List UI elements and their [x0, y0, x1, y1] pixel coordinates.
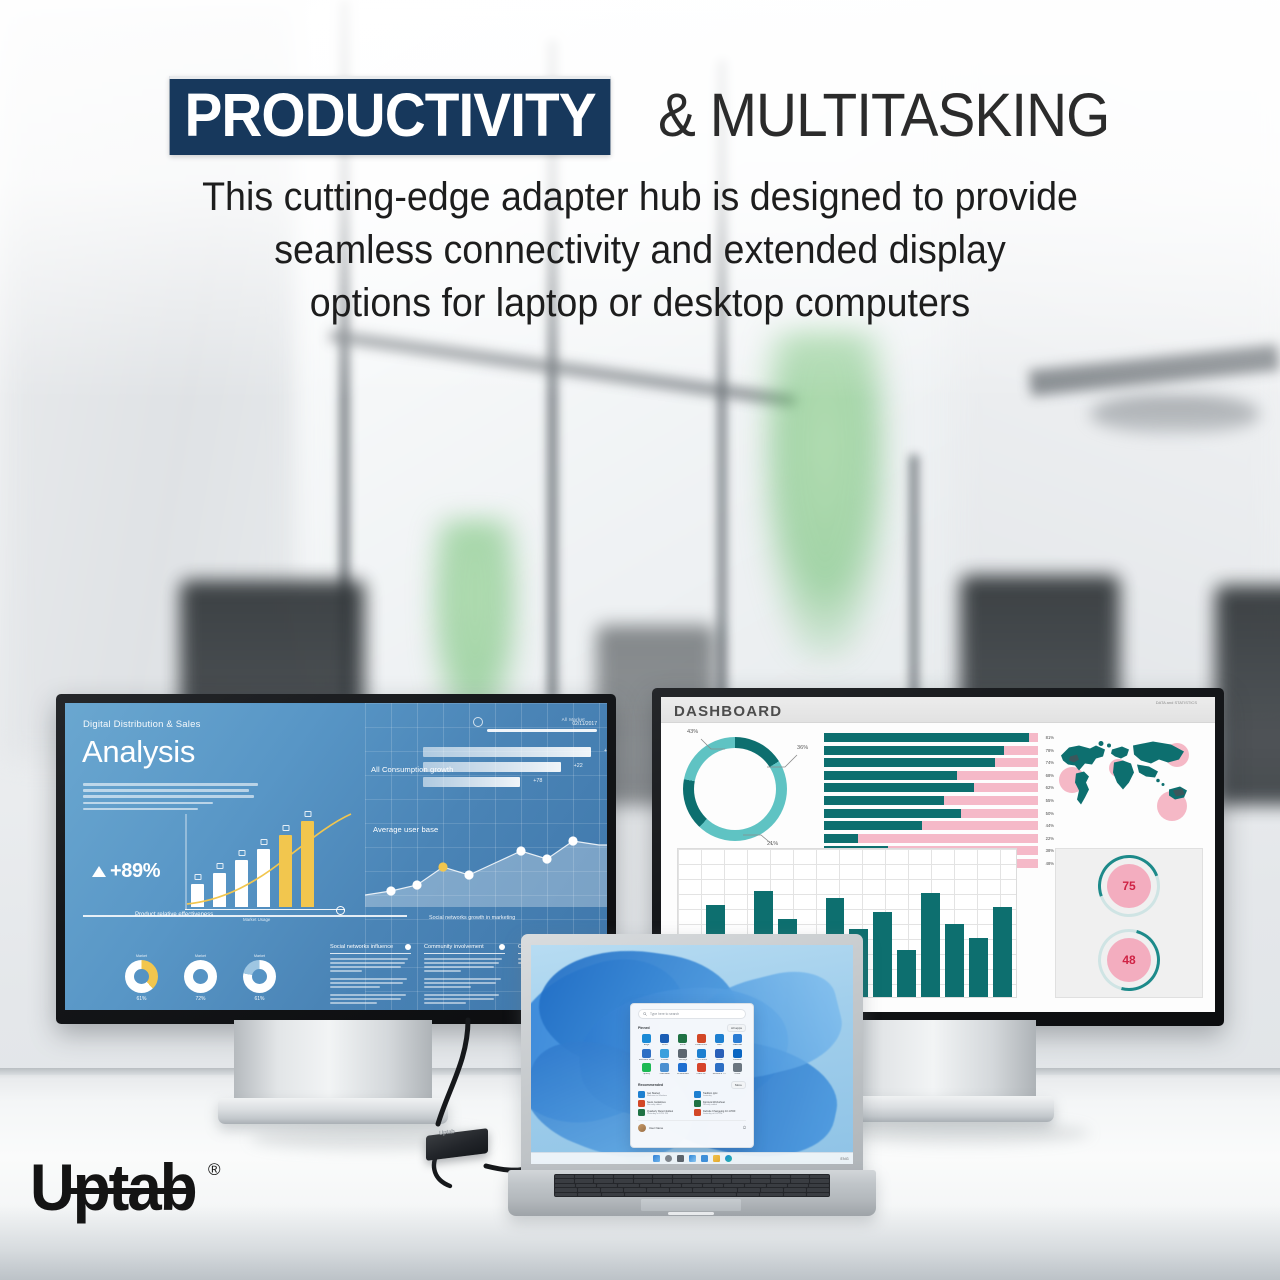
- column-paragraph: [424, 958, 505, 972]
- hbar-track: [824, 834, 1038, 843]
- column-bar: [969, 938, 988, 997]
- trackpad[interactable]: [641, 1199, 741, 1211]
- hbar: +78: [423, 777, 520, 787]
- column-bar: [873, 912, 892, 997]
- column-bar: [993, 907, 1012, 997]
- recommended-item[interactable]: Get StartedWelcome to Windows: [638, 1091, 691, 1098]
- analysis-paragraph: [83, 783, 263, 814]
- hbar-fill: [824, 821, 922, 830]
- world-map-chart: [1053, 733, 1203, 831]
- column-header: Social networks influence: [330, 944, 411, 950]
- hbar-fill: [824, 796, 944, 805]
- pinned-apps-grid: EdgeWordExcelPowerPointMailCalendarMicro…: [638, 1034, 746, 1076]
- growth-indicator: +89%: [92, 860, 160, 883]
- app-icon: [678, 1034, 687, 1043]
- hbar-track: [824, 809, 1038, 818]
- date-underline: [487, 729, 597, 732]
- app-label: Photos: [656, 1059, 673, 1062]
- column-rule: [424, 953, 505, 954]
- hbar-label: 22%: [1038, 836, 1054, 841]
- hbar-row: 55%: [824, 796, 1054, 805]
- column-dot-icon: [499, 944, 505, 950]
- recommended-icon: [694, 1109, 701, 1116]
- recommended-section-header: Recommended More: [638, 1081, 746, 1089]
- pinned-app[interactable]: Whiteboard: [674, 1063, 691, 1076]
- recommended-text: News GuidelinesRecently added: [647, 1101, 666, 1106]
- recommended-text: Website Changelog 10.1.PDFYesterday at 6…: [703, 1110, 736, 1115]
- app-icon: [642, 1063, 651, 1072]
- analysis-kicker: Digital Distribution & Sales: [83, 719, 201, 730]
- recommended-icon: [638, 1091, 645, 1098]
- hbar: +22: [423, 762, 561, 772]
- column-paragraph: [330, 958, 411, 972]
- search-icon: [643, 1012, 647, 1016]
- pinned-app[interactable]: Settings: [674, 1049, 691, 1062]
- pinned-label: Pinned: [638, 1026, 650, 1030]
- pinned-app[interactable]: Word: [656, 1034, 673, 1047]
- hbar-fill: [824, 746, 1004, 755]
- app-icon: [715, 1063, 724, 1072]
- left-monitor-base: [218, 1098, 448, 1124]
- donut-chart: [243, 960, 276, 993]
- edge-icon[interactable]: [725, 1155, 732, 1162]
- hbar-value: +22: [574, 763, 583, 769]
- scene: Digital Distribution & Sales Analysis Al…: [0, 0, 1280, 1280]
- taskbar[interactable]: ENG: [531, 1152, 853, 1164]
- app-icon: [733, 1049, 742, 1058]
- hbar-track: [824, 796, 1038, 805]
- more-button[interactable]: More: [731, 1081, 746, 1089]
- pinned-app[interactable]: Linkedin: [729, 1049, 746, 1062]
- app-label: Calculator: [656, 1073, 673, 1076]
- all-apps-button[interactable]: All apps: [727, 1024, 746, 1032]
- laptop: Type here to search Pinned All apps Edge…: [508, 934, 876, 1224]
- pinned-app[interactable]: Calculator: [656, 1063, 673, 1076]
- app-label: Whiteboard: [674, 1073, 691, 1076]
- pinned-app[interactable]: To Do: [711, 1049, 728, 1062]
- headline-block: PRODUCTIVITY & MULTITASKING This cutting…: [0, 76, 1280, 331]
- app-label: Movies & TV: [711, 1073, 728, 1076]
- app-label: Clock: [729, 1073, 746, 1076]
- hbar-fill: [824, 809, 961, 818]
- hbar-track: [824, 746, 1038, 755]
- app-label: Spotify: [638, 1073, 655, 1076]
- start-menu[interactable]: Type here to search Pinned All apps Edge…: [630, 1003, 754, 1148]
- hbar-row: 74%: [824, 758, 1054, 767]
- recommended-icon: [638, 1109, 645, 1116]
- analysis-title: Analysis: [82, 734, 195, 770]
- recommended-subtitle: Yesterday at 6:02 PM: [703, 1113, 736, 1115]
- system-tray[interactable]: ENG: [840, 1157, 849, 1161]
- keyboard-row: [555, 1179, 829, 1182]
- hbar-fill: [824, 733, 1029, 742]
- hbar-track: [824, 733, 1038, 742]
- gauge-panel: 75 48: [1055, 848, 1203, 998]
- column-bar: [921, 893, 940, 997]
- app-label: Calendar: [729, 1044, 746, 1047]
- search-placeholder: Type here to search: [650, 1012, 679, 1016]
- hbar-label: 74%: [1038, 760, 1054, 765]
- donut-value: 61%: [243, 996, 276, 1002]
- hbar-fill: [824, 771, 957, 780]
- app-label: Linkedin: [729, 1059, 746, 1062]
- task-view-icon[interactable]: [677, 1155, 684, 1162]
- app-icon: [715, 1034, 724, 1043]
- hbar-fill: [824, 834, 858, 843]
- hbar-label: 81%: [1038, 735, 1054, 740]
- app-label: Mail: [711, 1044, 728, 1047]
- pinned-app[interactable]: Excel: [674, 1034, 691, 1047]
- app-icon: [733, 1034, 742, 1043]
- app-icon: [678, 1063, 687, 1072]
- column-dot-icon: [405, 944, 411, 950]
- recommended-icon: [638, 1100, 645, 1107]
- pinned-section-header: Pinned All apps: [638, 1024, 746, 1032]
- brand-logo: Uptab ®: [30, 1158, 196, 1220]
- recommended-text: Tradition.pptxYesterday: [703, 1092, 718, 1097]
- subtitle-line-1: This cutting-edge adapter hub is designe…: [38, 171, 1241, 224]
- widgets-icon[interactable]: [689, 1155, 696, 1162]
- hbar-row: 68%: [824, 771, 1054, 780]
- up-arrow-icon: [92, 866, 106, 877]
- hbar-label: 44%: [1038, 823, 1054, 828]
- hbar-track: [824, 758, 1038, 767]
- app-label: PowerPoint: [692, 1044, 709, 1047]
- app-icon: [733, 1063, 742, 1072]
- donut-value: 72%: [184, 996, 217, 1002]
- column-paragraph: [330, 978, 411, 988]
- search-input[interactable]: Type here to search: [638, 1009, 746, 1019]
- date-circle-icon: [473, 717, 483, 727]
- recommended-text: Approval WorksheetRecently added: [703, 1101, 725, 1106]
- date-line: 02/11/2017: [487, 721, 597, 732]
- area-chart: [365, 821, 607, 907]
- donut-item: Market 72%: [184, 954, 217, 1002]
- app-icon: [642, 1049, 651, 1058]
- start-icon[interactable]: [653, 1155, 660, 1162]
- hbar-label: 48%: [1038, 861, 1054, 866]
- hbar-value: +33: [604, 748, 607, 754]
- subtitle-line-2: seamless connectivity and extended displ…: [38, 224, 1241, 277]
- hbar-row: 44%: [824, 821, 1054, 830]
- pinned-app[interactable]: Mail: [711, 1034, 728, 1047]
- title-row: PRODUCTIVITY & MULTITASKING: [0, 76, 1280, 155]
- pinned-app[interactable]: PowerPoint: [692, 1034, 709, 1047]
- background-chair: [1215, 585, 1280, 805]
- recommended-icon: [694, 1091, 701, 1098]
- pinned-app[interactable]: Calendar: [729, 1034, 746, 1047]
- effectiveness-title: Product relative effectiveness: [135, 912, 213, 918]
- recommended-label: Recommended: [638, 1083, 663, 1087]
- donut-value: 61%: [125, 996, 158, 1002]
- column-title: Community involvement: [424, 944, 484, 950]
- pinned-app[interactable]: Microsoft Store: [638, 1049, 655, 1062]
- recommended-subtitle: Welcome to Windows: [647, 1095, 667, 1097]
- laptop-screen: Type here to search Pinned All apps Edge…: [531, 945, 853, 1164]
- hbar-label: 55%: [1038, 798, 1054, 803]
- app-label: Settings: [674, 1059, 691, 1062]
- app-icon: [660, 1034, 669, 1043]
- headline-plain: & MULTITASKING: [658, 85, 1109, 146]
- column-paragraph: [424, 978, 505, 988]
- pinned-app[interactable]: Edge: [638, 1034, 655, 1047]
- app-icon: [697, 1049, 706, 1058]
- recommended-text: Quarterly Report EditedYesterday at 10:1…: [647, 1110, 673, 1115]
- avatar[interactable]: [638, 1124, 646, 1132]
- pinned-app[interactable]: Clock: [729, 1063, 746, 1076]
- recommended-list: Get StartedWelcome to WindowsTradition.p…: [638, 1091, 746, 1116]
- laptop-base: [508, 1170, 876, 1216]
- recommended-subtitle: Yesterday at 10:14 PM: [647, 1113, 673, 1115]
- hbar-fill: [824, 783, 974, 792]
- left-monitor-neck: [234, 1020, 432, 1104]
- recommended-subtitle: Recently added: [703, 1104, 725, 1106]
- hbar-label: 50%: [1038, 811, 1054, 816]
- hbar-row: 81%: [824, 733, 1054, 742]
- subtitle-line-3: options for laptop or desktop computers: [38, 277, 1241, 330]
- pinned-app[interactable]: Photos: [656, 1049, 673, 1062]
- registered-trademark-icon: ®: [208, 1160, 221, 1180]
- app-label: Your Phone: [692, 1059, 709, 1062]
- recommended-subtitle: Yesterday: [703, 1095, 718, 1097]
- window-mullion-vertical: [910, 455, 918, 705]
- hbar-track: [824, 783, 1038, 792]
- laptop-lid: Type here to search Pinned All apps Edge…: [521, 934, 863, 1176]
- dashboard-date: 02/11/2017: [487, 721, 597, 727]
- hbar-track: [824, 821, 1038, 830]
- power-icon[interactable]: ⏻: [743, 1125, 746, 1130]
- recommended-text: Get StartedWelcome to Windows: [647, 1092, 667, 1097]
- ceiling-lamp: [1090, 395, 1260, 433]
- column-header: Community involvement: [424, 944, 505, 950]
- donut-caption: Market: [125, 954, 158, 958]
- hbar-fill: [824, 758, 995, 767]
- subtitle-block: This cutting-edge adapter hub is designe…: [38, 171, 1241, 331]
- laptop-keyboard[interactable]: [554, 1174, 830, 1197]
- adapter-hub-body: [426, 1128, 488, 1161]
- dashboard-title: DASHBOARD: [674, 703, 782, 720]
- app-icon: [678, 1049, 687, 1058]
- gauge-chart: 48: [1098, 929, 1160, 991]
- search-icon[interactable]: [665, 1155, 672, 1162]
- recommended-icon: [694, 1100, 701, 1107]
- pie-leader-lines: [681, 733, 831, 851]
- donut-chart: [184, 960, 217, 993]
- gauge-ring: [1088, 845, 1170, 927]
- hbar-track: [824, 771, 1038, 780]
- column-paragraph: [330, 994, 411, 1004]
- trend-line: [185, 812, 353, 910]
- keyboard-row: [555, 1175, 829, 1178]
- donut-item: Market 61%: [125, 954, 158, 1002]
- column-bar: [897, 950, 916, 997]
- app-label: Microsoft Store: [638, 1059, 655, 1062]
- hbar-row: 78%: [824, 746, 1054, 755]
- recommended-item[interactable]: News GuidelinesRecently added: [638, 1100, 691, 1107]
- app-icon: [715, 1049, 724, 1058]
- pinned-app[interactable]: Movies & TV: [711, 1063, 728, 1076]
- hbar-value: +78: [533, 778, 542, 784]
- pinned-app[interactable]: Your Phone: [692, 1049, 709, 1062]
- hbar-row: 22%: [824, 834, 1054, 843]
- app-label: Paint 3D: [692, 1073, 709, 1076]
- column-paragraph: [424, 994, 505, 1004]
- app-label: Excel: [674, 1044, 691, 1047]
- app-icon: [697, 1034, 706, 1043]
- app-label: To Do: [711, 1059, 728, 1062]
- monitor-shadow: [840, 1122, 1090, 1144]
- keyboard-row: [555, 1193, 829, 1196]
- gauge-chart: 75: [1098, 855, 1160, 917]
- text-column: Community involvement: [424, 944, 505, 1006]
- growth-value: +89%: [110, 860, 160, 883]
- hbar-label: 78%: [1038, 748, 1054, 753]
- app-label: Word: [656, 1044, 673, 1047]
- app-label: Edge: [638, 1044, 655, 1047]
- user-row[interactable]: User Name ⏻: [638, 1120, 746, 1132]
- app-icon: [660, 1063, 669, 1072]
- user-name: User Name: [649, 1126, 663, 1130]
- headline-badge: PRODUCTIVITY: [170, 76, 611, 155]
- recommended-subtitle: Recently added: [647, 1104, 666, 1106]
- recommended-item[interactable]: Quarterly Report EditedYesterday at 10:1…: [638, 1109, 691, 1116]
- hbar: +33: [423, 747, 591, 757]
- chat-icon[interactable]: [701, 1155, 708, 1162]
- pinned-app[interactable]: Spotify: [638, 1063, 655, 1076]
- gauge-ring: [1087, 918, 1172, 1003]
- hbar-label: 38%: [1038, 848, 1054, 853]
- pinned-app[interactable]: Paint 3D: [692, 1063, 709, 1076]
- laptop-latch-notch: [668, 1212, 714, 1215]
- text-column: Social networks influence: [330, 944, 411, 1006]
- column-title: Social networks influence: [330, 944, 393, 950]
- world-map-shape: [1053, 733, 1203, 831]
- brand-logo-bar: [70, 1188, 188, 1194]
- keyboard-row: [555, 1184, 829, 1187]
- donut-caption: Market: [184, 954, 217, 958]
- recommended-item[interactable]: Tradition.pptxYesterday: [694, 1091, 747, 1098]
- donut-chart: [125, 960, 158, 993]
- app-icon: [642, 1034, 651, 1043]
- app-icon: [660, 1049, 669, 1058]
- donut-group: Market 61% Market 72% Market 61%: [125, 954, 276, 1002]
- column-bar: [945, 924, 964, 997]
- hbar-row: 62%: [824, 783, 1054, 792]
- consumption-bars: +33 +22 +78: [423, 747, 591, 792]
- recommended-item[interactable]: Approval WorksheetRecently added: [694, 1100, 747, 1107]
- hbar-label: 62%: [1038, 785, 1054, 790]
- file-explorer-icon[interactable]: [713, 1155, 720, 1162]
- recommended-item[interactable]: Website Changelog 10.1.PDFYesterday at 6…: [694, 1109, 747, 1116]
- donut-caption: Market: [243, 954, 276, 958]
- hbar-label: 68%: [1038, 773, 1054, 778]
- app-icon: [697, 1063, 706, 1072]
- donut-item: Market 61%: [243, 954, 276, 1002]
- adapter-hub: Uptab: [426, 1124, 504, 1166]
- keyboard-row: [555, 1188, 829, 1191]
- column-rule: [330, 953, 411, 954]
- dashboard-top-note: DATA and STATISTICS: [1156, 700, 1197, 706]
- hbar-row: 50%: [824, 809, 1054, 818]
